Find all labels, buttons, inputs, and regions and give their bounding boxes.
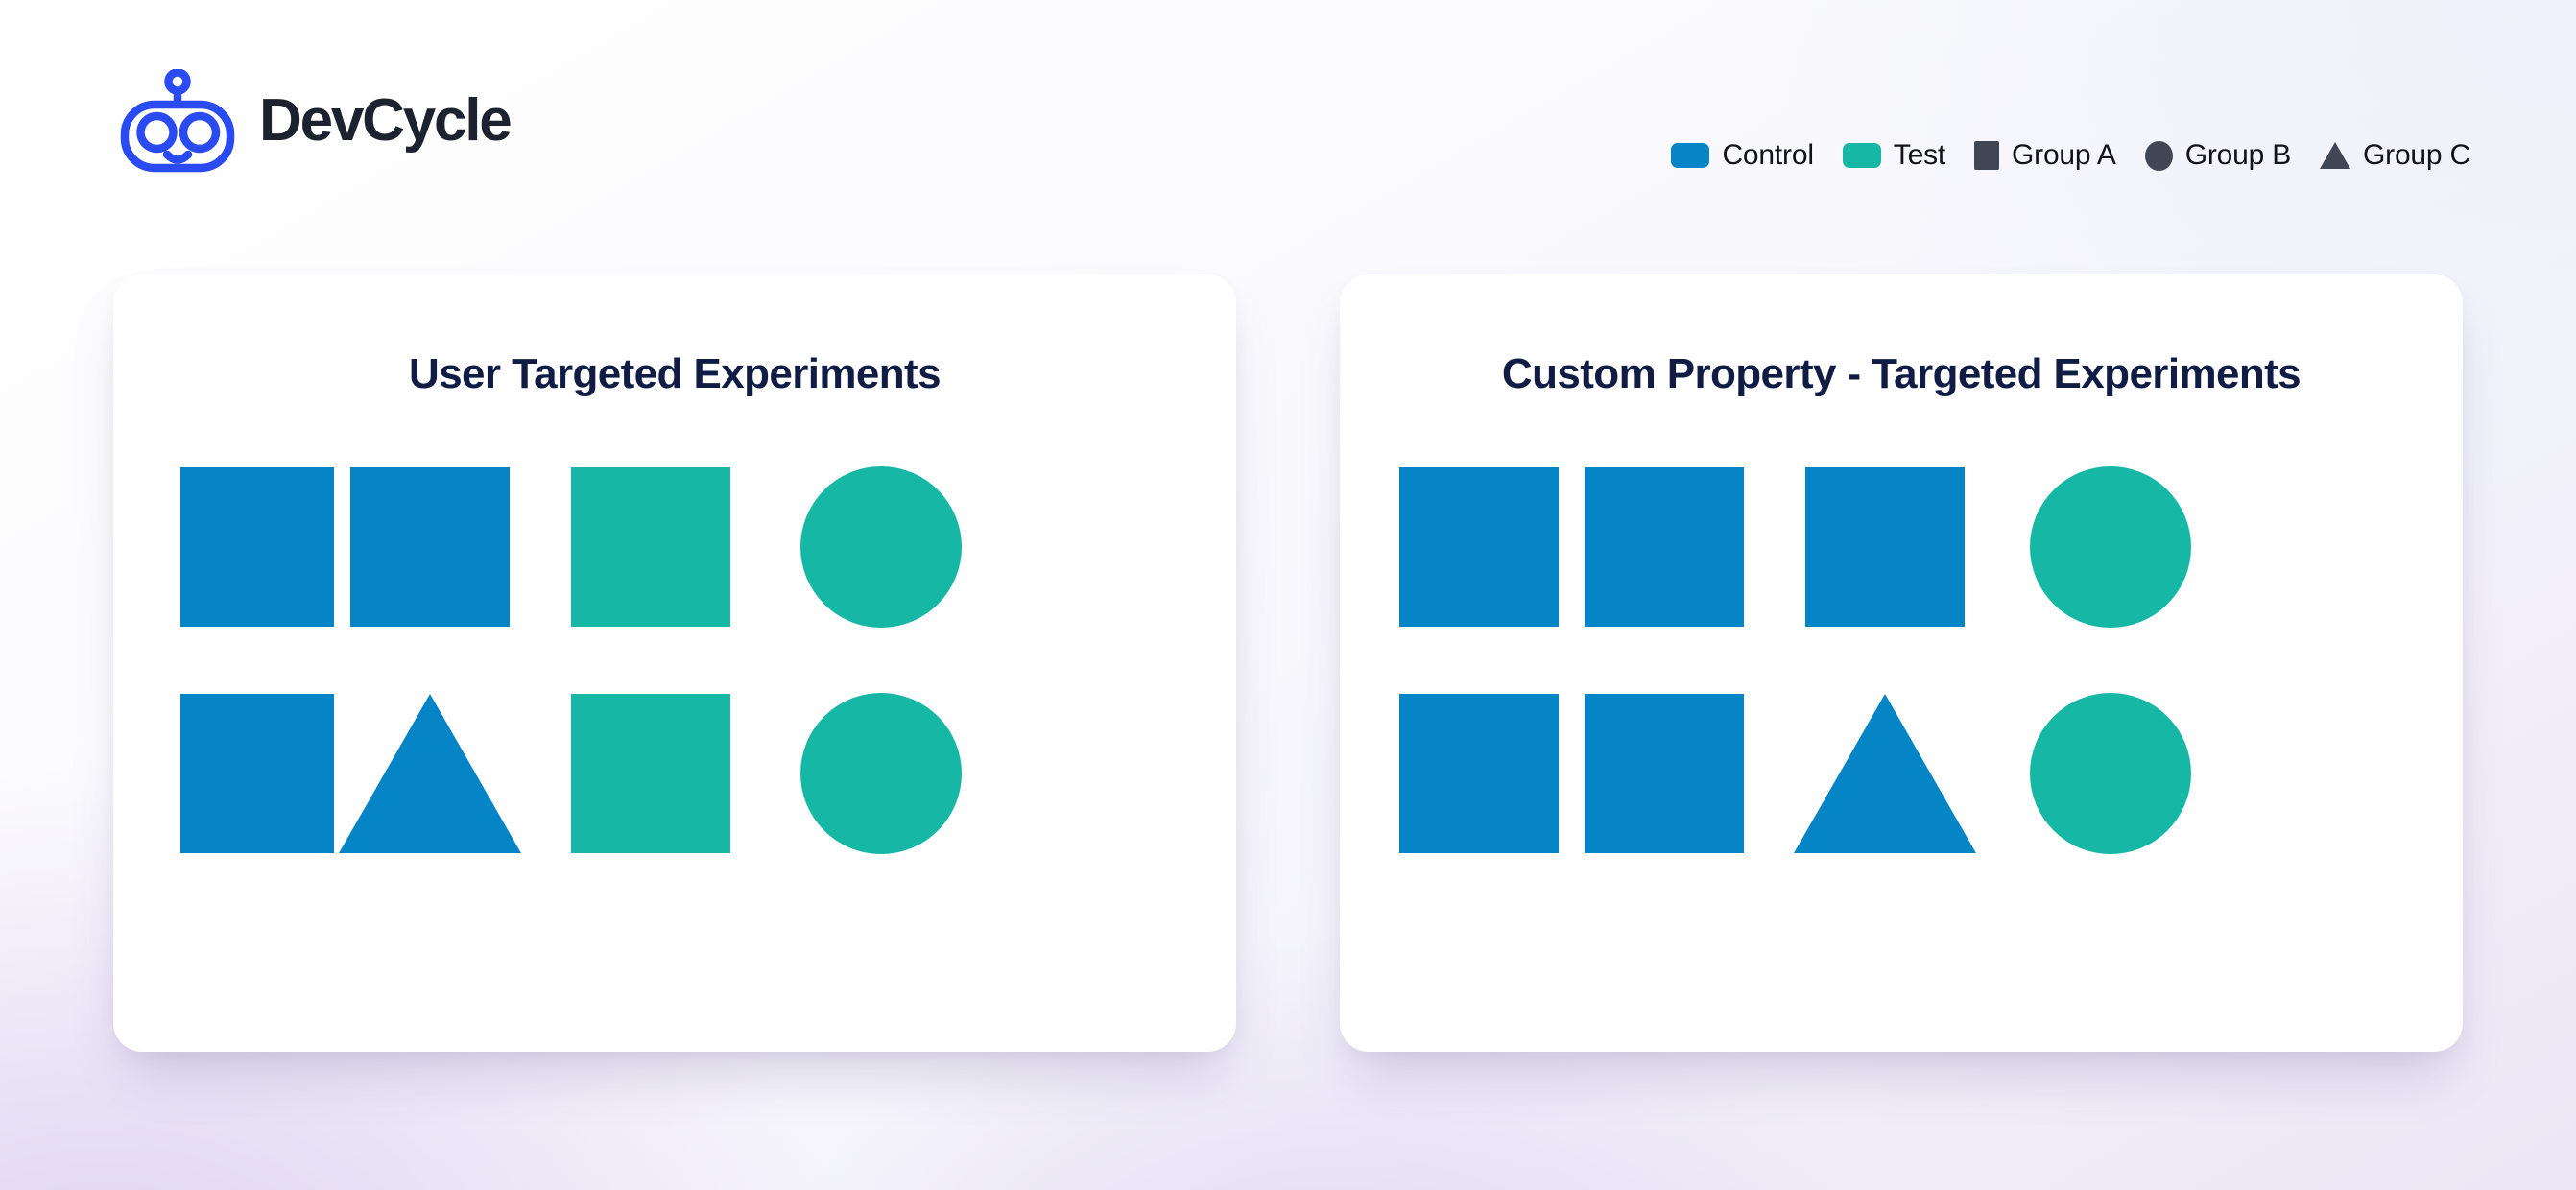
legend-item-group-c[interactable]: Group C [2320, 134, 2470, 177]
shape-row [113, 466, 1236, 628]
page-header: DevCycle Control Test Group A Group B Gr… [0, 0, 2576, 259]
card-title-user-targeted: User Targeted Experiments [113, 351, 1236, 397]
shape-triangle-control [339, 694, 521, 853]
shape-row [113, 693, 1236, 854]
shape-grid-user-targeted [113, 466, 1236, 854]
shape-square-test [571, 467, 730, 627]
shape-cell [1767, 693, 2002, 854]
shape-cell [334, 693, 526, 854]
shape-square-test [571, 694, 730, 853]
brand-logo[interactable]: DevCycle [117, 69, 511, 173]
shape-triangle-control [1794, 694, 1976, 853]
shape-circle-test [800, 466, 962, 628]
shape-cell [2002, 693, 2218, 854]
shape-cell [113, 693, 334, 854]
devcycle-robot-icon [117, 69, 238, 173]
shape-cell [1561, 466, 1767, 628]
legend-label-control: Control [1722, 141, 1813, 170]
shape-row [1340, 693, 2463, 854]
brand-name: DevCycle [259, 91, 511, 151]
shape-cell [2002, 466, 2218, 628]
legend-item-control[interactable]: Control [1671, 134, 1813, 177]
legend-item-test[interactable]: Test [1843, 134, 1945, 177]
experiment-cards: User Targeted Experiments [113, 274, 2463, 1052]
shape-cell [526, 693, 775, 854]
shape-square-control [1805, 467, 1965, 627]
shape-circle-test [800, 693, 962, 854]
legend-swatch-control [1671, 143, 1709, 168]
shape-square-control [1585, 694, 1744, 853]
card-custom-property-targeted[interactable]: Custom Property - Targeted Experiments [1340, 274, 2463, 1052]
legend-marker-group-c [2320, 142, 2350, 169]
shape-square-control [180, 467, 334, 627]
card-user-targeted[interactable]: User Targeted Experiments [113, 274, 1236, 1052]
legend-label-group-c: Group C [2363, 141, 2470, 170]
shape-circle-test [2030, 693, 2191, 854]
shape-circle-test [2030, 466, 2191, 628]
legend-label-group-b: Group B [2185, 141, 2291, 170]
shape-grid-custom-property-targeted [1340, 466, 2463, 854]
legend-marker-group-a [1974, 141, 1999, 170]
shape-cell [113, 466, 334, 628]
shape-square-control [1399, 694, 1559, 853]
shape-cell [1561, 693, 1767, 854]
shape-cell [1340, 693, 1561, 854]
shape-square-control [1399, 467, 1559, 627]
shape-square-control [1585, 467, 1744, 627]
shape-cell [334, 466, 526, 628]
legend-label-group-a: Group A [2012, 141, 2116, 170]
legend-marker-group-b [2145, 141, 2173, 171]
shape-cell [1340, 466, 1561, 628]
legend-label-test: Test [1894, 141, 1945, 170]
legend-item-group-b[interactable]: Group B [2145, 134, 2291, 177]
shape-cell [1767, 466, 2002, 628]
shape-cell [775, 466, 987, 628]
shape-cell [526, 466, 775, 628]
legend-item-group-a[interactable]: Group A [1974, 134, 2116, 177]
card-title-custom-property-targeted: Custom Property - Targeted Experiments [1340, 351, 2463, 397]
chart-legend: Control Test Group A Group B Group C [1671, 134, 2470, 177]
shape-square-control [180, 694, 334, 853]
shape-square-control [350, 467, 510, 627]
legend-swatch-test [1843, 143, 1881, 168]
shape-cell [775, 693, 987, 854]
shape-row [1340, 466, 2463, 628]
